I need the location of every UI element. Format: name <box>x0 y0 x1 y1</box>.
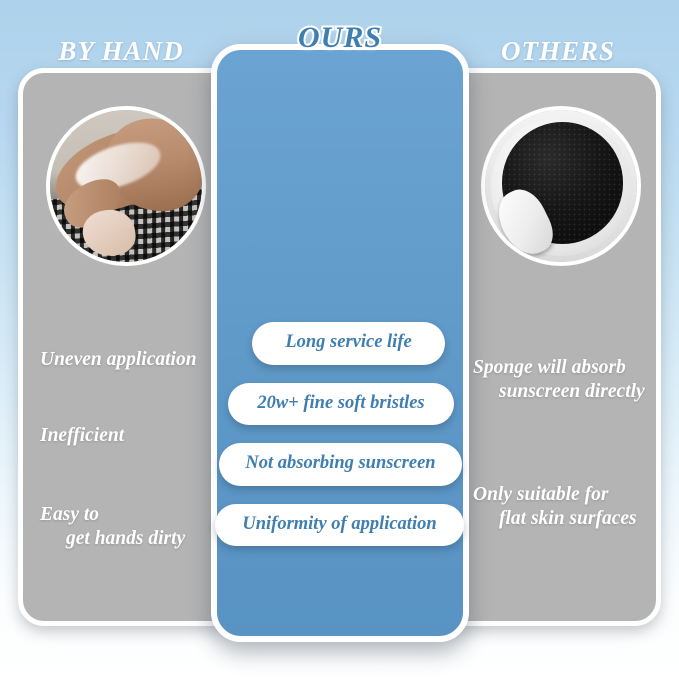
column-title-others: OTHERS <box>437 36 679 67</box>
bullet-list-by-hand: Uneven application Inefficient Easy to g… <box>40 348 236 552</box>
bullet-line-1: Sponge will absorb <box>473 356 669 380</box>
feature-pill: 20w+ fine soft bristles <box>228 383 454 426</box>
photo-others-art <box>485 110 637 262</box>
column-title-ours: OURS <box>211 21 469 55</box>
bullet-item: Sponge will absorb sunscreen directly <box>473 356 669 405</box>
bullet-list-others: Sponge will absorb sunscreen directly On… <box>473 356 669 532</box>
bullet-line-2: flat skin surfaces <box>473 507 669 531</box>
bullet-line-1: Only suitable for <box>473 483 669 507</box>
feature-pill: Long service life <box>252 322 445 365</box>
bullet-line-1: Inefficient <box>40 424 236 448</box>
photo-by-hand <box>46 106 206 266</box>
bullet-item: Only suitable for flat skin surfaces <box>473 483 669 532</box>
feature-pill: Not absorbing sunscreen <box>219 443 462 486</box>
feature-pill-list: Long service life 20w+ fine soft bristle… <box>211 322 469 546</box>
bullet-item: Uneven application <box>40 348 236 372</box>
column-title-by-hand: BY HAND <box>0 36 242 67</box>
bullet-line-2: get hands dirty <box>40 527 236 551</box>
photo-others <box>481 106 641 266</box>
bullet-item: Inefficient <box>40 424 236 448</box>
bullet-line-1: Uneven application <box>40 348 236 372</box>
photo-by-hand-art <box>50 110 202 262</box>
comparison-infographic: BY HAND Uneven application Inefficient E… <box>0 0 679 679</box>
bullet-line-2: sunscreen directly <box>473 380 669 404</box>
bullet-item: Easy to get hands dirty <box>40 503 236 552</box>
bullet-line-1: Easy to <box>40 503 236 527</box>
feature-pill: Uniformity of application <box>215 504 464 547</box>
